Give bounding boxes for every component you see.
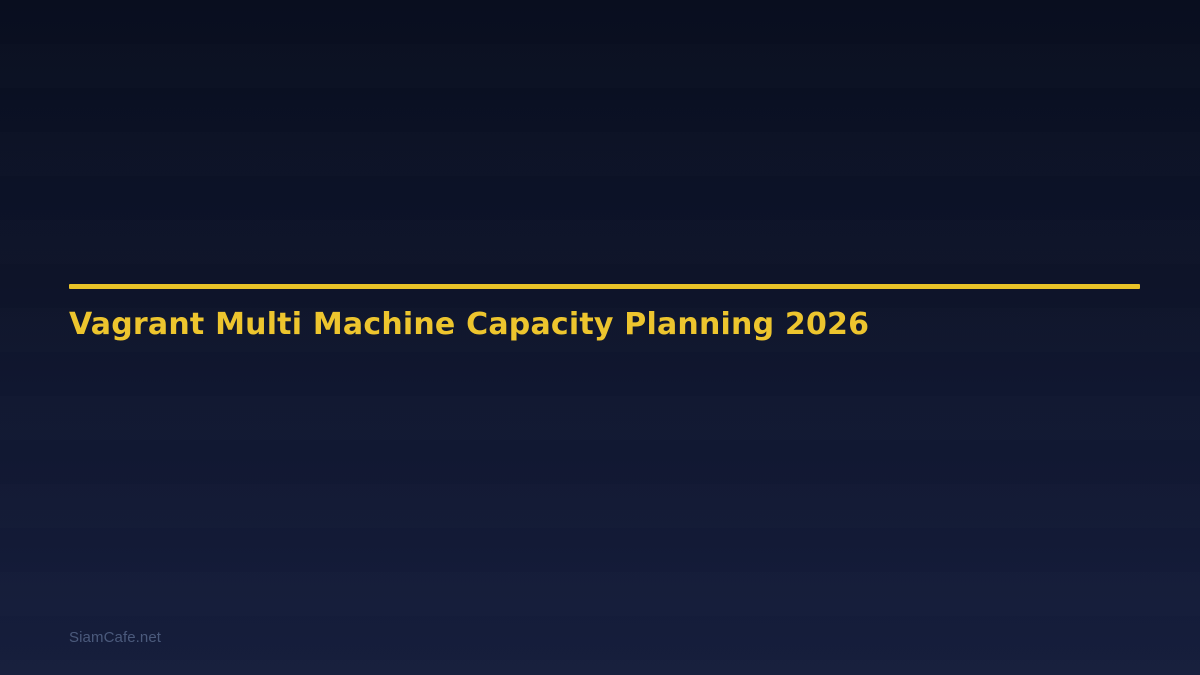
page-title: Vagrant Multi Machine Capacity Planning … (69, 289, 1140, 343)
title-slide: Vagrant Multi Machine Capacity Planning … (0, 0, 1200, 675)
footer-watermark: SiamCafe.net (69, 629, 161, 646)
title-block: Vagrant Multi Machine Capacity Planning … (69, 284, 1140, 343)
